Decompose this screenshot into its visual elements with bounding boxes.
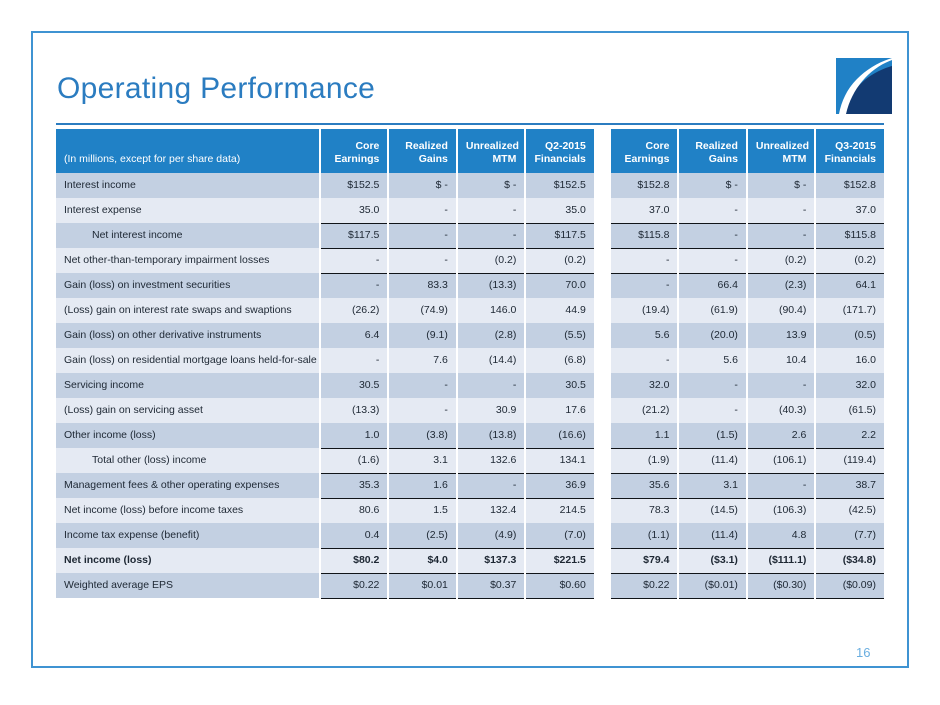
table-cell: - xyxy=(457,223,525,248)
table-cell: 134.1 xyxy=(525,448,593,473)
row-label: Servicing income xyxy=(56,373,320,398)
table-cell: - xyxy=(747,473,815,498)
row-group-spacer xyxy=(594,348,610,373)
table-cell: (21.2) xyxy=(610,398,678,423)
table-row: Weighted average EPS$0.22$0.01$0.37$0.60… xyxy=(56,573,884,598)
table-cell: (40.3) xyxy=(747,398,815,423)
table-cell: 2.2 xyxy=(815,423,884,448)
header-line-2: Financials xyxy=(534,153,585,166)
table-cell: (1.1) xyxy=(610,523,678,548)
table-cell: 78.3 xyxy=(610,498,678,523)
header-line-2: Financials xyxy=(824,153,876,166)
column-header-core-earnings-q3: Core Earnings xyxy=(610,129,678,173)
table-cell: $ - xyxy=(678,173,746,198)
table-cell: - xyxy=(320,273,388,298)
row-group-spacer xyxy=(594,298,610,323)
table-row: Gain (loss) on residential mortgage loan… xyxy=(56,348,884,373)
row-group-spacer xyxy=(594,523,610,548)
table-cell: 37.0 xyxy=(610,198,678,223)
row-label: Other income (loss) xyxy=(56,423,320,448)
table-cell: (7.7) xyxy=(815,523,884,548)
table-cell: 32.0 xyxy=(815,373,884,398)
row-group-spacer xyxy=(594,548,610,573)
row-label: Management fees & other operating expens… xyxy=(56,473,320,498)
header-line-2: Earnings xyxy=(329,153,379,166)
table-cell: 30.9 xyxy=(457,398,525,423)
table-cell: - xyxy=(320,248,388,273)
table-cell: - xyxy=(320,348,388,373)
table-row: Interest income$152.5$ -$ -$152.5$152.8$… xyxy=(56,173,884,198)
table-cell: 32.0 xyxy=(610,373,678,398)
table-cell: ($0.01) xyxy=(678,573,746,598)
table-cell: (13.8) xyxy=(457,423,525,448)
table-cell: 5.6 xyxy=(678,348,746,373)
header-line-2: Gains xyxy=(687,153,737,166)
table-cell: 1.1 xyxy=(610,423,678,448)
header-line-1: Q3-2015 xyxy=(835,140,876,152)
table-cell: (2.8) xyxy=(457,323,525,348)
table-cell: 30.5 xyxy=(320,373,388,398)
table-header: (In millions, except for per share data)… xyxy=(56,129,884,173)
table-cell: 3.1 xyxy=(388,448,456,473)
table-cell: (13.3) xyxy=(320,398,388,423)
table-cell: (11.4) xyxy=(678,448,746,473)
row-group-spacer xyxy=(594,473,610,498)
header-line-2: MTM xyxy=(756,153,806,166)
table-cell: $115.8 xyxy=(815,223,884,248)
table-cell: (171.7) xyxy=(815,298,884,323)
table-cell: (0.2) xyxy=(747,248,815,273)
header-line-2: MTM xyxy=(466,153,516,166)
header-line-1: Realized xyxy=(405,140,448,152)
table-cell: (2.5) xyxy=(388,523,456,548)
header-line-1: Core xyxy=(646,140,670,152)
column-header-unrealized-mtm-q3: Unrealized MTM xyxy=(747,129,815,173)
table-cell: (106.1) xyxy=(747,448,815,473)
table-row: Gain (loss) on investment securities-83.… xyxy=(56,273,884,298)
table-cell: (11.4) xyxy=(678,523,746,548)
column-header-core-earnings-q2: Core Earnings xyxy=(320,129,388,173)
table-cell: - xyxy=(678,198,746,223)
table-cell: $117.5 xyxy=(320,223,388,248)
column-header-q2-2015-financials: Q2-2015 Financials xyxy=(525,129,593,173)
table-cell: (90.4) xyxy=(747,298,815,323)
table-caption: (In millions, except for per share data) xyxy=(56,129,320,173)
table-cell: 16.0 xyxy=(815,348,884,373)
header-line-2: Gains xyxy=(397,153,447,166)
row-group-spacer xyxy=(594,423,610,448)
table-cell: (3.8) xyxy=(388,423,456,448)
row-label: Net interest income xyxy=(56,223,320,248)
table-cell: 132.4 xyxy=(457,498,525,523)
table-cell: (14.5) xyxy=(678,498,746,523)
table-cell: $0.22 xyxy=(610,573,678,598)
table-cell: $0.37 xyxy=(457,573,525,598)
table-cell: 7.6 xyxy=(388,348,456,373)
table-cell: - xyxy=(678,373,746,398)
row-label: Weighted average EPS xyxy=(56,573,320,598)
table-cell: 13.9 xyxy=(747,323,815,348)
header-line-1: Unrealized xyxy=(756,140,809,152)
table-cell: (9.1) xyxy=(388,323,456,348)
table-cell: 10.4 xyxy=(747,348,815,373)
row-label: Net other-than-temporary impairment loss… xyxy=(56,248,320,273)
column-header-unrealized-mtm-q2: Unrealized MTM xyxy=(457,129,525,173)
row-group-spacer xyxy=(594,573,610,598)
table-cell: (1.5) xyxy=(678,423,746,448)
table-row: Total other (loss) income(1.6)3.1132.613… xyxy=(56,448,884,473)
header-row: (In millions, except for per share data)… xyxy=(56,129,884,173)
column-header-realized-gains-q2: Realized Gains xyxy=(388,129,456,173)
table-row: Other income (loss)1.0(3.8)(13.8)(16.6)1… xyxy=(56,423,884,448)
table-cell: 214.5 xyxy=(525,498,593,523)
table-cell: $152.5 xyxy=(525,173,593,198)
table-row: Net other-than-temporary impairment loss… xyxy=(56,248,884,273)
table-body: Interest income$152.5$ -$ -$152.5$152.8$… xyxy=(56,173,884,598)
table-cell: $0.60 xyxy=(525,573,593,598)
table-cell: 132.6 xyxy=(457,448,525,473)
table-cell: (1.6) xyxy=(320,448,388,473)
table-cell: - xyxy=(388,198,456,223)
table-cell: - xyxy=(388,373,456,398)
table-cell: (6.8) xyxy=(525,348,593,373)
table-cell: - xyxy=(678,248,746,273)
table-cell: ($34.8) xyxy=(815,548,884,573)
table-cell: - xyxy=(747,198,815,223)
table-cell: 35.6 xyxy=(610,473,678,498)
table-cell: (0.5) xyxy=(815,323,884,348)
table-cell: (20.0) xyxy=(678,323,746,348)
row-group-spacer xyxy=(594,498,610,523)
table-cell: $ - xyxy=(747,173,815,198)
table-cell: 36.9 xyxy=(525,473,593,498)
table-cell: (0.2) xyxy=(457,248,525,273)
row-label: Income tax expense (benefit) xyxy=(56,523,320,548)
table-cell: - xyxy=(457,473,525,498)
table-cell: (14.4) xyxy=(457,348,525,373)
table-cell: 64.1 xyxy=(815,273,884,298)
column-header-realized-gains-q3: Realized Gains xyxy=(678,129,746,173)
row-group-spacer xyxy=(594,448,610,473)
table-cell: (119.4) xyxy=(815,448,884,473)
table-cell: (13.3) xyxy=(457,273,525,298)
row-group-spacer xyxy=(594,173,610,198)
table-row: Net interest income$117.5--$117.5$115.8-… xyxy=(56,223,884,248)
table-cell: 35.3 xyxy=(320,473,388,498)
table-cell: 0.4 xyxy=(320,523,388,548)
table-cell: $ - xyxy=(388,173,456,198)
table-cell: (5.5) xyxy=(525,323,593,348)
table-cell: $152.8 xyxy=(610,173,678,198)
table-row: (Loss) gain on interest rate swaps and s… xyxy=(56,298,884,323)
row-label: Interest expense xyxy=(56,198,320,223)
table-cell: (0.2) xyxy=(815,248,884,273)
table-cell: - xyxy=(388,398,456,423)
table-cell: $117.5 xyxy=(525,223,593,248)
table-row: Management fees & other operating expens… xyxy=(56,473,884,498)
row-label: (Loss) gain on servicing asset xyxy=(56,398,320,423)
table-cell: 5.6 xyxy=(610,323,678,348)
table-cell: 1.5 xyxy=(388,498,456,523)
table-cell: $0.01 xyxy=(388,573,456,598)
table-row: (Loss) gain on servicing asset(13.3)-30.… xyxy=(56,398,884,423)
table-cell: $ - xyxy=(457,173,525,198)
header-line-1: Unrealized xyxy=(466,140,519,152)
table-cell: - xyxy=(678,223,746,248)
operating-performance-table: (In millions, except for per share data)… xyxy=(56,129,884,599)
table-cell: ($3.1) xyxy=(678,548,746,573)
financial-table-container: (In millions, except for per share data)… xyxy=(56,129,884,599)
table-cell: 35.0 xyxy=(320,198,388,223)
row-group-spacer xyxy=(594,398,610,423)
table-cell: 66.4 xyxy=(678,273,746,298)
table-cell: - xyxy=(747,373,815,398)
table-row: Net income (loss)$80.2$4.0$137.3$221.5$7… xyxy=(56,548,884,573)
table-cell: 6.4 xyxy=(320,323,388,348)
row-label: Gain (loss) on residential mortgage loan… xyxy=(56,348,320,373)
table-cell: 17.6 xyxy=(525,398,593,423)
table-cell: $0.22 xyxy=(320,573,388,598)
table-cell: $115.8 xyxy=(610,223,678,248)
row-group-spacer xyxy=(594,248,610,273)
row-group-spacer xyxy=(594,373,610,398)
table-cell: 83.3 xyxy=(388,273,456,298)
table-cell: - xyxy=(610,348,678,373)
table-cell: (106.3) xyxy=(747,498,815,523)
table-cell: 38.7 xyxy=(815,473,884,498)
table-cell: - xyxy=(610,273,678,298)
row-group-spacer xyxy=(594,198,610,223)
page-title: Operating Performance xyxy=(57,72,375,106)
table-cell: (1.9) xyxy=(610,448,678,473)
table-cell: (61.5) xyxy=(815,398,884,423)
table-cell: $221.5 xyxy=(525,548,593,573)
table-cell: - xyxy=(388,248,456,273)
table-cell: (4.9) xyxy=(457,523,525,548)
table-cell: (7.0) xyxy=(525,523,593,548)
header-line-1: Core xyxy=(355,140,379,152)
row-label: Net income (loss) xyxy=(56,548,320,573)
table-row: Net income (loss) before income taxes80.… xyxy=(56,498,884,523)
table-cell: $80.2 xyxy=(320,548,388,573)
company-logo-icon xyxy=(836,58,892,114)
table-cell: 70.0 xyxy=(525,273,593,298)
table-cell: 4.8 xyxy=(747,523,815,548)
table-cell: - xyxy=(457,373,525,398)
column-header-q3-2015-financials: Q3-2015 Financials xyxy=(815,129,884,173)
table-cell: (0.2) xyxy=(525,248,593,273)
column-group-spacer xyxy=(594,129,610,173)
table-cell: 37.0 xyxy=(815,198,884,223)
table-cell: (42.5) xyxy=(815,498,884,523)
table-row: Income tax expense (benefit)0.4(2.5)(4.9… xyxy=(56,523,884,548)
table-cell: - xyxy=(747,223,815,248)
table-row: Interest expense35.0--35.037.0--37.0 xyxy=(56,198,884,223)
table-cell: (26.2) xyxy=(320,298,388,323)
table-cell: (61.9) xyxy=(678,298,746,323)
table-row: Gain (loss) on other derivative instrume… xyxy=(56,323,884,348)
header-line-1: Q2-2015 xyxy=(545,140,586,152)
row-label: Gain (loss) on other derivative instrume… xyxy=(56,323,320,348)
table-cell: (16.6) xyxy=(525,423,593,448)
row-label: Interest income xyxy=(56,173,320,198)
table-cell: - xyxy=(678,398,746,423)
table-cell: 35.0 xyxy=(525,198,593,223)
row-label: Total other (loss) income xyxy=(56,448,320,473)
row-label: Net income (loss) before income taxes xyxy=(56,498,320,523)
table-cell: $137.3 xyxy=(457,548,525,573)
table-cell: - xyxy=(388,223,456,248)
row-label: Gain (loss) on investment securities xyxy=(56,273,320,298)
table-cell: - xyxy=(610,248,678,273)
table-cell: 1.6 xyxy=(388,473,456,498)
table-cell: $152.8 xyxy=(815,173,884,198)
header-line-1: Realized xyxy=(695,140,738,152)
table-cell: $4.0 xyxy=(388,548,456,573)
row-group-spacer xyxy=(594,273,610,298)
table-cell: (74.9) xyxy=(388,298,456,323)
row-label: (Loss) gain on interest rate swaps and s… xyxy=(56,298,320,323)
table-cell: $152.5 xyxy=(320,173,388,198)
slide: Operating Performance (In millions, exce… xyxy=(0,0,940,705)
table-cell: ($0.30) xyxy=(747,573,815,598)
row-group-spacer xyxy=(594,223,610,248)
table-cell: 3.1 xyxy=(678,473,746,498)
row-group-spacer xyxy=(594,323,610,348)
table-cell: 146.0 xyxy=(457,298,525,323)
table-cell: 2.6 xyxy=(747,423,815,448)
page-number: 16 xyxy=(856,645,870,660)
table-cell: ($0.09) xyxy=(815,573,884,598)
table-cell: - xyxy=(457,198,525,223)
table-cell: ($111.1) xyxy=(747,548,815,573)
table-cell: $79.4 xyxy=(610,548,678,573)
table-cell: 80.6 xyxy=(320,498,388,523)
table-row: Servicing income30.5--30.532.0--32.0 xyxy=(56,373,884,398)
table-cell: (2.3) xyxy=(747,273,815,298)
table-cell: 44.9 xyxy=(525,298,593,323)
title-underline xyxy=(56,123,884,125)
table-cell: (19.4) xyxy=(610,298,678,323)
table-cell: 1.0 xyxy=(320,423,388,448)
header-line-2: Earnings xyxy=(619,153,669,166)
table-cell: 30.5 xyxy=(525,373,593,398)
